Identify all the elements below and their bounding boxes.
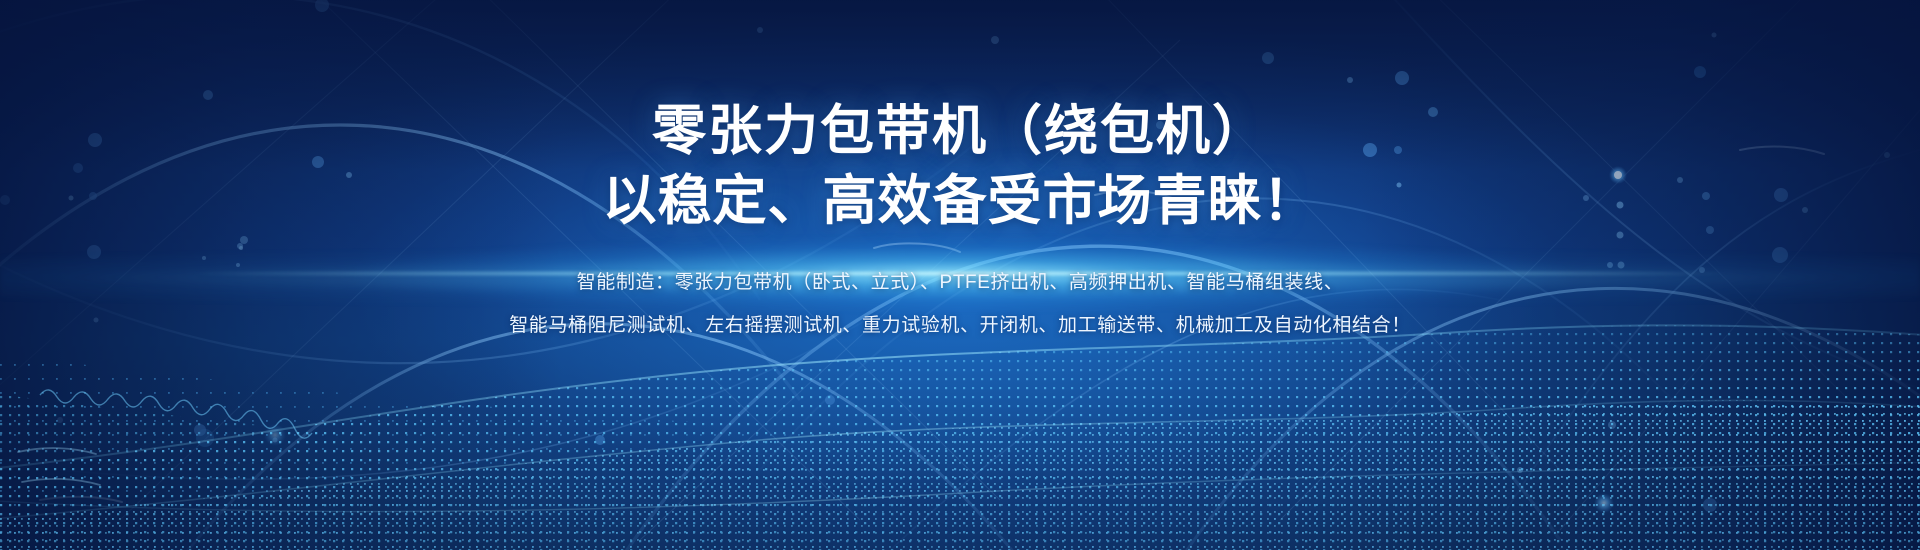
headline-line-2: 以稳定、高效备受市场青睐！ [603, 171, 1318, 231]
subtitle-line-2: 智能马桶阻尼测试机、左右摇摆测试机、重力试验机、开闭机、加工输送带、机械加工及自… [509, 305, 1411, 348]
subtitle-line-1: 智能制造：零张力包带机（卧式、立式）、PTFE挤出机、高频押出机、智能马桶组装线… [509, 262, 1411, 305]
subtitle-block: 智能制造：零张力包带机（卧式、立式）、PTFE挤出机、高频押出机、智能马桶组装线… [509, 262, 1411, 348]
banner-content: 零张力包带机（绕包机） 以稳定、高效备受市场青睐！ 智能制造：零张力包带机（卧式… [0, 0, 1920, 550]
headline-line-1: 零张力包带机（绕包机） [652, 101, 1268, 161]
hero-banner: 零张力包带机（绕包机） 以稳定、高效备受市场青睐！ 智能制造：零张力包带机（卧式… [0, 0, 1920, 550]
page-title: 零张力包带机（绕包机） 以稳定、高效备受市场青睐！ [603, 96, 1318, 236]
